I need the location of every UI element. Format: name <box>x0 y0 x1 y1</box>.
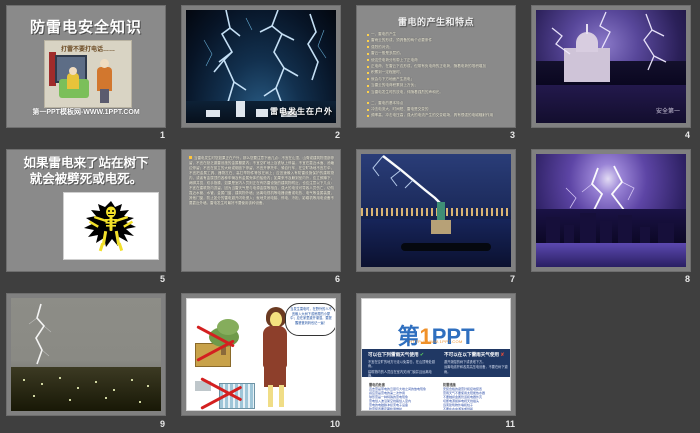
detail-list-right: 防雷措施 安装合格的避雷针和接地装置 雷雨天气不要使用太阳能热水器 不要触摸金属… <box>443 383 503 411</box>
slide-thumbnail-3[interactable]: 雷电的产生和特点 一、雷电的产生 雷雨云的形成，须具备的两个必要条件 强烈的对流… <box>356 5 516 128</box>
statue-pedestal-shape <box>431 220 451 234</box>
slide-thumbnail-4[interactable]: 安全第一 <box>531 5 691 128</box>
slide-1-cartoon-image: 打雷不要打电话…… <box>44 40 132 108</box>
slide-cell-1[interactable]: 防雷电安全知识 打雷不要打电话…… 第一PPT模板网-WWW.1PPT.COM … <box>0 0 175 144</box>
building-shape <box>580 213 596 243</box>
person-sitting-head <box>69 67 77 75</box>
slide-1-title: 防雷电安全知识 <box>7 16 165 37</box>
column-forbidden-heading: 不可以在以下雷雨天气使用 <box>444 352 499 357</box>
skeleton-image <box>63 192 159 260</box>
logo-one: 1 <box>419 324 431 349</box>
slide-number-11: 11 <box>505 419 515 429</box>
slide-number-3: 3 <box>510 130 515 140</box>
bullet-dot-icon <box>367 78 369 80</box>
bullet-item: 使这些电荷分布带上了正电荷 <box>367 58 509 63</box>
bullet-dot-icon <box>367 85 369 87</box>
detail-list-left: 雷电的危害 直击雷是带电的云层与大地之间的放电现象 感应雷是雷电的第二次作用 球… <box>369 383 429 411</box>
bullet-item: 就会与下方地面产生放电； <box>367 77 509 82</box>
paragraph-text: 当雷电发生时您如果正在户外，那么您要注意下面几点：不宜在山顶、山脊或建筑物顶部停… <box>189 156 334 205</box>
statue-of-liberty-lightning-photo <box>361 154 511 267</box>
slide-thumbnail-9[interactable] <box>6 293 166 416</box>
slide-cell-3[interactable]: 雷电的产生和特点 一、雷电的产生 雷雨云的形成，须具备的两个必要条件 强烈的对流… <box>350 0 525 144</box>
slide-thumbnail-1[interactable]: 防雷电安全知识 打雷不要打电话…… 第一PPT模板网-WWW.1PPT.COM <box>6 5 166 128</box>
person-standing-head <box>100 59 109 68</box>
column-allowed-heading: 可以在下列雷雨天气使用 <box>368 352 419 357</box>
bullet-item: 冲击电流大、时间短、雷电是交变的 <box>367 107 509 112</box>
woman-leg-left-shape <box>268 385 273 407</box>
building-shape <box>658 223 674 243</box>
slide-4-watermark: 安全第一 <box>656 106 680 115</box>
bullet-dot-icon <box>367 109 369 111</box>
rainy-window-lightning-photo <box>11 298 161 411</box>
slide-3-title: 雷电的产生和特点 <box>357 15 515 28</box>
column-forbidden: 不可以在以下雷雨天气使用 ✘ 避开潮湿的树下或铁塔下方。 远离电线杆和各类高压电… <box>444 352 511 374</box>
cartoon-caption: 打雷不要打电话…… <box>45 44 131 53</box>
bullet-item: 一、雷电的产生 <box>367 32 509 37</box>
comparison-band: 可以在下列雷雨天气使用 ✔ 不宜在空旷的地方行走以免雷击，在山顶等处避雨。 建筑… <box>362 349 510 377</box>
cross-icon: ✘ <box>500 352 504 358</box>
bullet-item: 频率高、冲击电压高，强大的电流产生的交变磁场，具有很强的电磁辐射作用 <box>367 113 509 118</box>
person-standing-body <box>97 67 112 91</box>
slide-cell-8[interactable]: 8 <box>525 144 700 288</box>
list-item: 防雷装置要定期检测维护 <box>369 407 429 411</box>
slide-6-paragraph: 当雷电发生时您如果正在户外，那么您要注意下面几点：不宜在山顶、山脊或建筑物顶部停… <box>189 156 334 206</box>
logo-suffix: PPT <box>432 324 475 349</box>
bullet-dot-icon <box>367 34 369 36</box>
village-house-1 <box>206 110 220 117</box>
capitol-lightning-photo: 安全第一 <box>536 10 686 123</box>
lightning-village-photo: 雷电发生在户外 <box>186 10 336 123</box>
slide-3-bullet-list: 一、雷电的产生 雷雨云的形成，须具备的两个必要条件 强烈的对流； 雷云一般是多层… <box>367 32 509 120</box>
brand-slide-content: 第1PPT HTTP://WWW.1PPT.COM 可以在下列雷雨天气使用 ✔ … <box>361 298 511 411</box>
detail-lists: 雷电的危害 直击雷是带电的云层与大地之间的放电现象 感应雷是雷电的第二次作用 球… <box>362 383 510 411</box>
woman-leg-right-shape <box>279 385 284 407</box>
person-sitting-body <box>67 73 79 89</box>
slide-thumbnail-grid: 防雷电安全知识 打雷不要打电话…… 第一PPT模板网-WWW.1PPT.COM … <box>0 0 700 433</box>
woman-face-shape <box>270 312 282 327</box>
column-forbidden-line-1: 避开潮湿的树下或铁塔下方。 <box>444 360 511 364</box>
building-shape <box>564 225 574 243</box>
slide-thumbnail-2[interactable]: 雷电发生在户外 <box>181 5 341 128</box>
bullet-item: 积累到一定程度时， <box>367 70 509 75</box>
village-church <box>236 101 245 117</box>
red-cross-icon-2 <box>201 377 247 407</box>
column-allowed-line-2: 建筑物内的人员应在室内关闭门窗并且远离电器。 <box>368 370 438 379</box>
slide-thumbnail-11[interactable]: 第1PPT HTTP://WWW.1PPT.COM 可以在下列雷雨天气使用 ✔ … <box>356 293 516 416</box>
slide-cell-10[interactable]: 当发生雷电时，在野外的人不宜躲入大树下或房屋的小屋中；应在家里避开潮湿，要提醒爸… <box>175 288 350 433</box>
logo-url: HTTP://WWW.1PPT.COM <box>362 339 510 344</box>
slide-1-watermark: 第一PPT模板网-WWW.1PPT.COM <box>7 107 165 117</box>
bullet-dot-icon <box>367 40 369 42</box>
water-reflection-shape <box>536 243 686 267</box>
slide-number-6: 6 <box>335 274 340 284</box>
bullet-dot-icon <box>189 156 192 159</box>
bullet-item: 当雷电发生时的放电，伴随着强烈的声和光。 <box>367 90 509 95</box>
bullet-item: 二、雷电的基本特点 <box>367 101 509 106</box>
slide-number-10: 10 <box>330 419 340 429</box>
bullet-dot-icon <box>367 53 369 55</box>
slide-cell-4[interactable]: 安全第一 4 <box>525 0 700 144</box>
slide-5-line-1: 如果雷电来了站在树下 <box>11 156 161 171</box>
bullet-dot-icon <box>367 72 369 74</box>
slide-cell-9[interactable]: 9 <box>0 288 175 433</box>
column-forbidden-line-2: 远离电线杆和各类高压电设备，不要在树下避雨。 <box>444 365 511 374</box>
bullet-item: 雷云一般是多层的。 <box>367 51 509 56</box>
building-shape <box>600 221 612 243</box>
red-cross-icon-1 <box>197 325 239 359</box>
column-allowed-line-1: 不宜在空旷的地方行走以免雷击，在山顶等处避雨。 <box>368 360 438 369</box>
apartment-buildings-shape <box>11 367 161 411</box>
slide-number-5: 5 <box>160 274 165 284</box>
slide-cell-5[interactable]: 如果雷电来了站在树下 就会被劈死或电死。 <box>0 144 175 288</box>
slide-number-8: 8 <box>685 274 690 284</box>
slide-number-7: 7 <box>510 274 515 284</box>
building-shape <box>546 217 560 243</box>
slide-2-overlay-text: 雷电发生在户外 <box>270 106 333 117</box>
bullet-dot-icon <box>367 59 369 61</box>
bullet-spacer <box>367 96 509 100</box>
slide-cell-2[interactable]: 雷电发生在户外 2 <box>175 0 350 144</box>
bullet-item: 正电荷，在雷云下边形成，但带有负电荷的正电荷，随着电荷的堆积增加 <box>367 64 509 69</box>
first-ppt-logo: 第1PPT <box>362 319 510 351</box>
bullet-dot-icon <box>367 46 369 48</box>
slide-thumbnail-8[interactable] <box>531 149 691 272</box>
cartoon-safety-illustration: 当发生雷电时，在野外的人不宜躲入大树下或房屋的小屋中；应在家里避开潮湿，要提醒爸… <box>186 298 336 411</box>
slide-cell-7[interactable]: 7 <box>350 144 525 288</box>
slide-number-1: 1 <box>160 130 165 140</box>
slide-cell-11[interactable]: 第1PPT HTTP://WWW.1PPT.COM 可以在下列雷雨天气使用 ✔ … <box>350 288 525 433</box>
slide-number-9: 9 <box>160 419 165 429</box>
slide-thumbnail-10[interactable]: 当发生雷电时，在野外的人不宜躲入大树下或房屋的小屋中；应在家里避开潮湿，要提醒爸… <box>181 293 341 416</box>
slide-cell-6[interactable]: 当雷电发生时您如果正在户外，那么您要注意下面几点：不宜在山顶、山脊或建筑物顶部停… <box>175 144 350 288</box>
statue-shape <box>437 202 445 222</box>
woman-skirt-shape <box>264 361 286 387</box>
slide-thumbnail-6[interactable]: 当雷电发生时您如果正在户外，那么您要注意下面几点：不宜在山顶、山脊或建筑物顶部停… <box>181 149 341 272</box>
slide-thumbnail-7[interactable] <box>356 149 516 272</box>
island-shape <box>401 243 491 251</box>
bullet-item: 当雷云的电荷积累到上万伏； <box>367 83 509 88</box>
bullet-item: 雷雨云的形成，须具备的两个必要条件 <box>367 38 509 43</box>
building-shape <box>618 215 632 243</box>
bullet-dot-icon <box>367 115 369 117</box>
slide-5-line-2: 就会被劈死或电死。 <box>11 172 161 187</box>
slide-thumbnail-5[interactable]: 如果雷电来了站在树下 就会被劈死或电死。 <box>6 149 166 272</box>
village-house-2 <box>256 109 268 117</box>
building-shape <box>640 227 650 243</box>
check-icon: ✔ <box>420 352 424 358</box>
person-standing-legs <box>100 89 109 103</box>
column-allowed: 可以在下列雷雨天气使用 ✔ 不宜在空旷的地方行走以免雷击，在山顶等处避雨。 建筑… <box>368 352 438 378</box>
skeleton-svg <box>74 199 148 255</box>
slide-number-4: 4 <box>685 130 690 140</box>
slide-number-2: 2 <box>335 130 340 140</box>
bullet-dot-icon <box>367 66 369 68</box>
empty-cell <box>525 288 700 433</box>
bullet-dot-icon <box>367 102 369 104</box>
speech-bubble: 当发生雷电时，在野外的人不宜躲入大树下或房屋的小屋中；应在家里避开潮湿，要提醒爸… <box>285 303 336 336</box>
purple-lightning-city-photo <box>536 154 686 267</box>
logo-prefix: 第 <box>397 324 419 349</box>
list-item: 不要在水中游泳或划船 <box>443 407 503 411</box>
bullet-item: 强烈的对流； <box>367 45 509 50</box>
bullet-dot-icon <box>367 91 369 93</box>
city-lights-shape <box>361 208 511 216</box>
